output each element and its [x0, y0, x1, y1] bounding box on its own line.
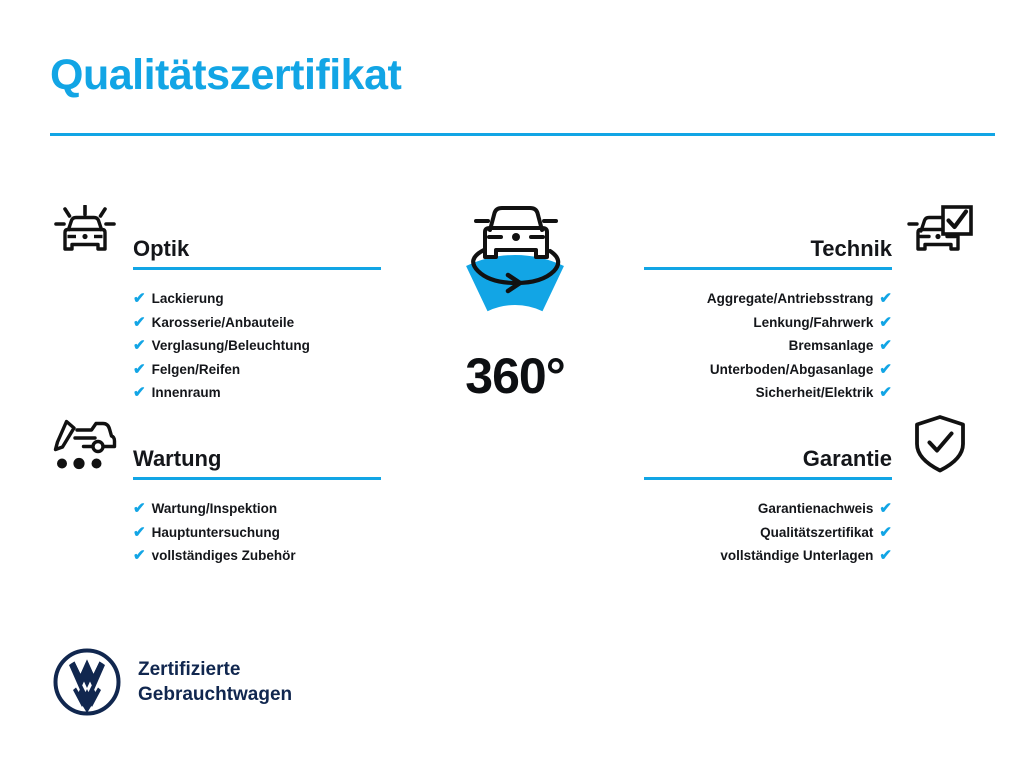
title-divider: [50, 133, 995, 136]
technik-list: Aggregate/Antriebsstrang✔ Lenkung/Fahrwe…: [645, 287, 980, 405]
check-icon: ✔: [879, 525, 892, 540]
list-item: ✔Verglasung/Beleuchtung: [133, 334, 380, 358]
check-icon: ✔: [879, 291, 892, 306]
list-item-label: Lackierung: [152, 287, 224, 311]
list-item-label: Verglasung/Beleuchtung: [152, 334, 310, 358]
pencil-car-service-icon: [45, 410, 125, 478]
list-item-label: Wartung/Inspektion: [152, 497, 278, 521]
section-technik: Technik Aggregate/Antriebsstrang✔ Lenkun…: [645, 200, 980, 405]
list-item-label: Lenkung/Fahrwerk: [753, 311, 873, 335]
section-title-wrap: Garantie: [644, 446, 892, 480]
check-icon: ✔: [133, 338, 146, 353]
vw-footer-text: Zertifizierte Gebrauchtwagen: [138, 657, 292, 707]
list-item: ✔vollständiges Zubehör: [133, 544, 380, 568]
section-title-wrap: Wartung: [133, 446, 381, 480]
list-item-label: Aggregate/Antriebsstrang: [707, 287, 874, 311]
check-icon: ✔: [879, 501, 892, 516]
list-item: vollständige Unterlagen✔: [645, 544, 980, 568]
badge-center-label: 360°: [376, 347, 654, 405]
list-item-label: Karosserie/Anbauteile: [152, 311, 295, 335]
list-item: ✔Hauptuntersuchung: [133, 521, 380, 545]
section-header: Optik: [45, 200, 380, 270]
section-title: Wartung: [133, 446, 381, 477]
list-item-label: Hauptuntersuchung: [152, 521, 280, 545]
vw-logo: [52, 647, 122, 717]
check-icon: ✔: [133, 385, 146, 400]
optik-list: ✔Lackierung ✔Karosserie/Anbauteile ✔Verg…: [45, 287, 380, 405]
section-underline: [133, 477, 381, 480]
list-item-label: Unterboden/Abgasanlage: [710, 358, 874, 382]
360-check-badge: Gebrauchtwagen-Check 360°: [376, 195, 654, 485]
check-icon: ✔: [133, 548, 146, 563]
section-header: Garantie: [645, 410, 980, 480]
section-optik: Optik ✔Lackierung ✔Karosserie/Anbauteile…: [45, 200, 380, 405]
check-icon: ✔: [879, 338, 892, 353]
check-icon: ✔: [879, 362, 892, 377]
check-icon: ✔: [133, 362, 146, 377]
check-icon: ✔: [133, 291, 146, 306]
check-icon: ✔: [133, 501, 146, 516]
check-icon: ✔: [133, 315, 146, 330]
section-title-wrap: Optik: [133, 236, 381, 270]
check-icon: ✔: [879, 385, 892, 400]
list-item: Bremsanlage✔: [645, 334, 980, 358]
list-item: ✔Karosserie/Anbauteile: [133, 311, 380, 335]
list-item: ✔Innenraum: [133, 381, 380, 405]
car-shine-icon: [45, 200, 125, 268]
page-title: Qualitätszertifikat: [50, 52, 401, 99]
vw-footer-line1: Zertifizierte: [138, 657, 292, 682]
garantie-list: Garantienachweis✔ Qualitätszertifikat✔ v…: [645, 497, 980, 568]
list-item-label: vollständige Unterlagen: [720, 544, 873, 568]
check-icon: ✔: [133, 525, 146, 540]
list-item-label: Sicherheit/Elektrik: [756, 381, 874, 405]
list-item-label: Bremsanlage: [789, 334, 874, 358]
list-item: Sicherheit/Elektrik✔: [645, 381, 980, 405]
list-item-label: vollständiges Zubehör: [152, 544, 296, 568]
certificate-page: Qualitätszertifikat: [0, 0, 1024, 768]
section-underline: [644, 267, 892, 270]
section-underline: [133, 267, 381, 270]
list-item-label: Innenraum: [152, 381, 221, 405]
section-garantie: Garantie Garantienachweis✔ Qualitätszert…: [645, 410, 980, 568]
shield-check-icon: [900, 410, 980, 478]
list-item: ✔Felgen/Reifen: [133, 358, 380, 382]
section-title: Technik: [644, 236, 892, 267]
list-item: ✔Lackierung: [133, 287, 380, 311]
list-item: Qualitätszertifikat✔: [645, 521, 980, 545]
list-item-label: Felgen/Reifen: [152, 358, 241, 382]
vw-footer-logo: Zertifizierte Gebrauchtwagen: [52, 647, 292, 717]
list-item-label: Qualitätszertifikat: [760, 521, 873, 545]
vw-footer-line2: Gebrauchtwagen: [138, 682, 292, 707]
list-item: Unterboden/Abgasanlage✔: [645, 358, 980, 382]
section-underline: [644, 477, 892, 480]
section-title: Garantie: [644, 446, 892, 477]
check-icon: ✔: [879, 315, 892, 330]
car-rotation-icon: [460, 195, 572, 295]
section-title: Optik: [133, 236, 381, 267]
section-header: Wartung: [45, 410, 380, 480]
car-checkbox-icon: [900, 200, 980, 268]
list-item: Lenkung/Fahrwerk✔: [645, 311, 980, 335]
list-item: Aggregate/Antriebsstrang✔: [645, 287, 980, 311]
wartung-list: ✔Wartung/Inspektion ✔Hauptuntersuchung ✔…: [45, 497, 380, 568]
check-icon: ✔: [879, 548, 892, 563]
section-wartung: Wartung ✔Wartung/Inspektion ✔Hauptunters…: [45, 410, 380, 568]
list-item: ✔Wartung/Inspektion: [133, 497, 380, 521]
section-header: Technik: [645, 200, 980, 270]
list-item: Garantienachweis✔: [645, 497, 980, 521]
section-title-wrap: Technik: [644, 236, 892, 270]
list-item-label: Garantienachweis: [758, 497, 874, 521]
